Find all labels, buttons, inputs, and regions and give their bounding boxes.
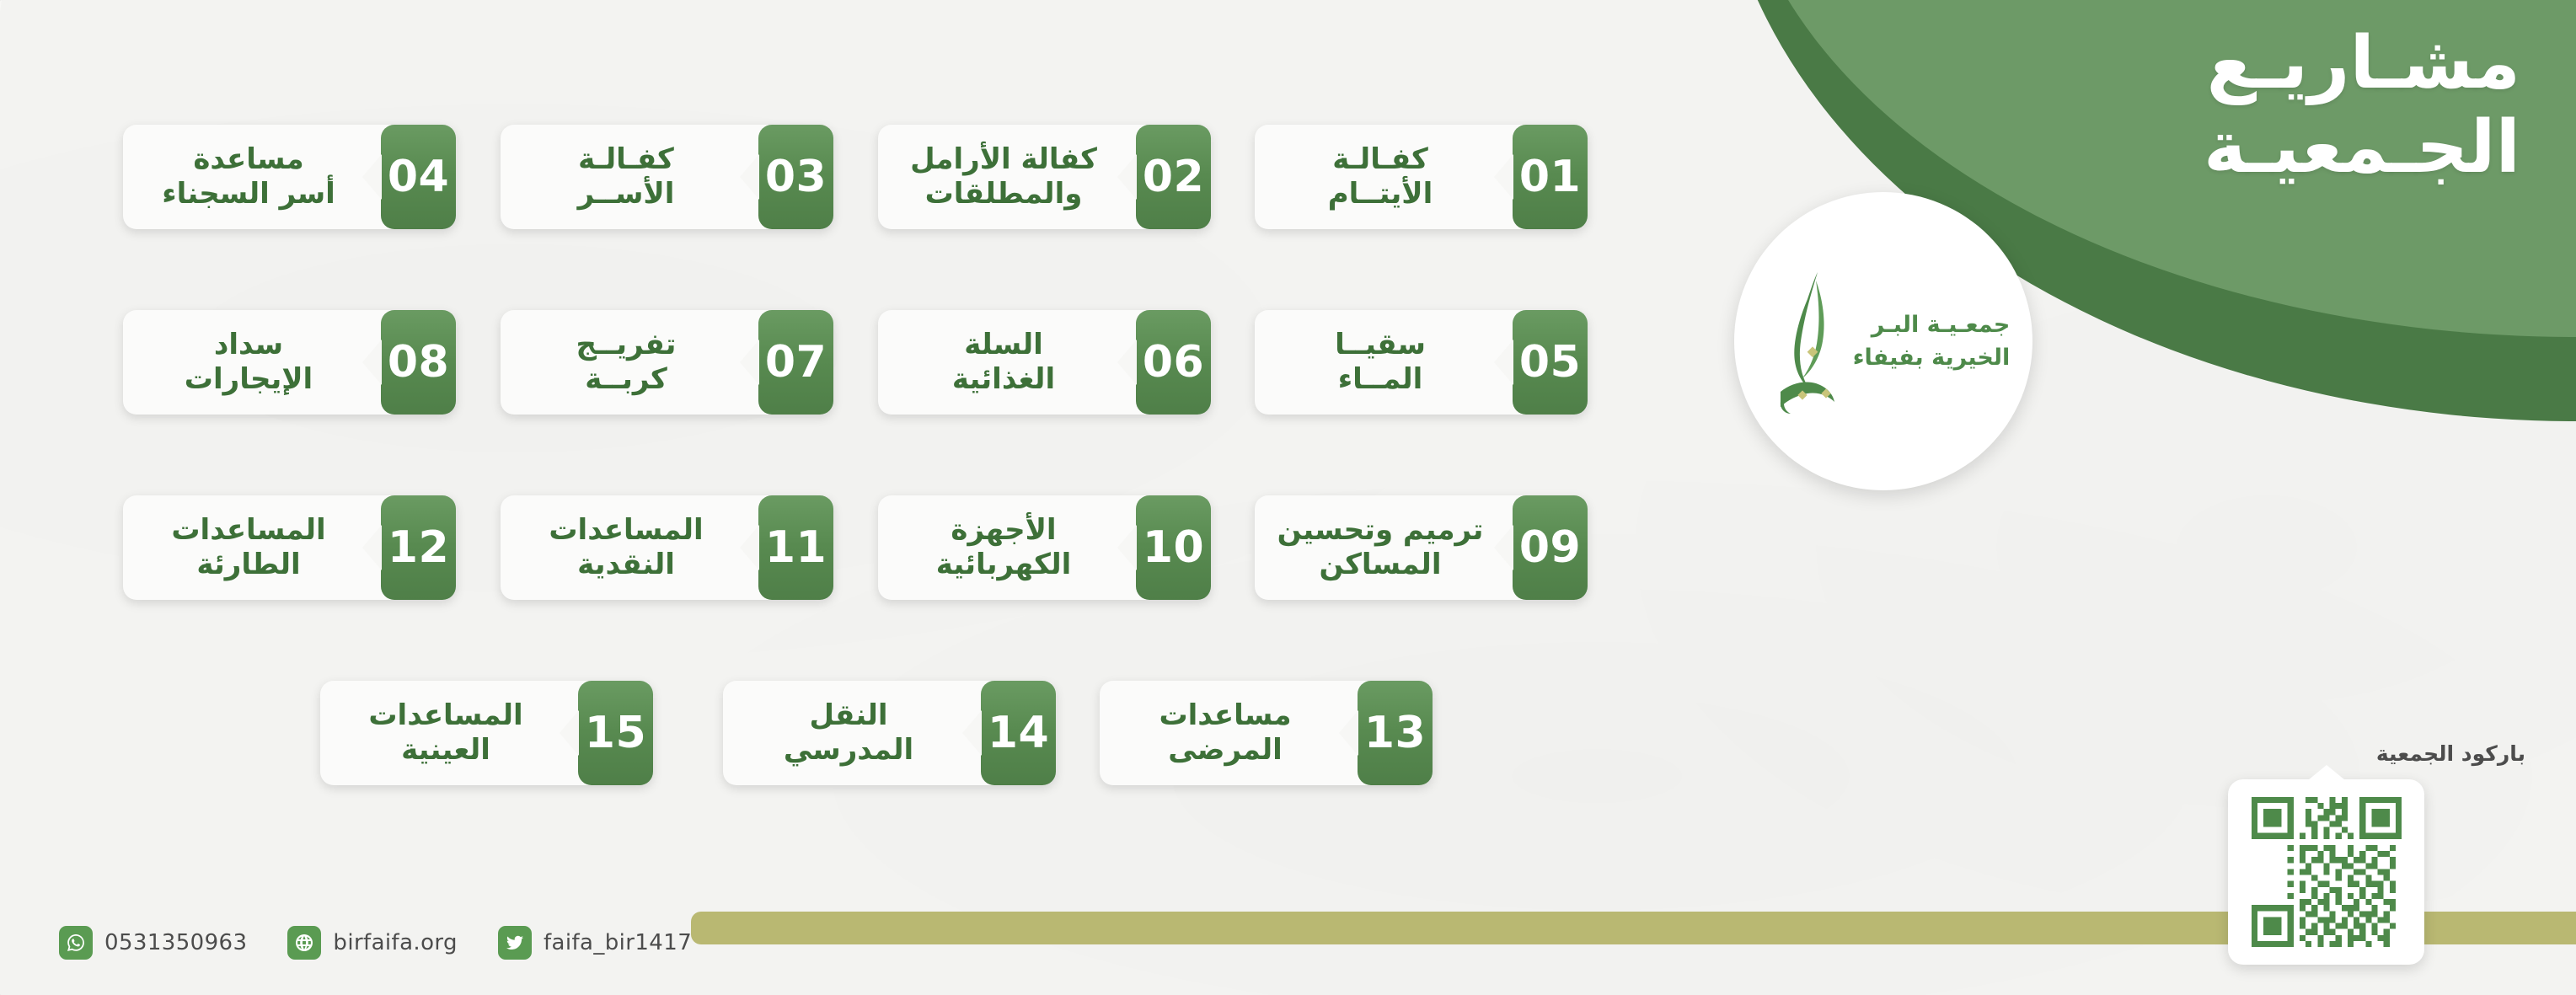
project-card-11[interactable]: 11 المساعدات النقدية	[501, 495, 833, 600]
project-label-14: النقل المدرسي	[723, 681, 981, 785]
qr-box[interactable]	[2228, 779, 2424, 965]
project-card-02[interactable]: 02 كفالة الأرامل والمطلقات	[878, 125, 1211, 229]
project-number-07: 07	[758, 310, 833, 415]
project-number-01: 01	[1513, 125, 1588, 229]
whatsapp-icon[interactable]	[59, 926, 93, 960]
project-card-14[interactable]: 14 النقل المدرسي	[723, 681, 1056, 785]
project-label-06: السلة الغذائية	[878, 310, 1136, 415]
projects-grid: 01 كفـالـة الأيتــام 02 كفالة الأرامل وا…	[0, 0, 2576, 995]
project-label-13: مساعدات المرضى	[1100, 681, 1358, 785]
project-card-08[interactable]: 08 سداد الإيجارات	[123, 310, 456, 415]
project-card-05[interactable]: 05 سقيــا المــاء	[1255, 310, 1588, 415]
project-label-15: المساعدات العينية	[320, 681, 578, 785]
contact-twitter[interactable]: faifa_bir1417	[498, 926, 692, 960]
contact-strip: 0531350963 birfaifa.org faifa_bir1417	[59, 926, 692, 960]
project-number-02: 02	[1136, 125, 1211, 229]
project-card-03[interactable]: 03 كفـالـة الأســر	[501, 125, 833, 229]
project-label-12: المساعدات الطارئة	[123, 495, 381, 600]
project-number-09: 09	[1513, 495, 1588, 600]
project-number-06: 06	[1136, 310, 1211, 415]
project-card-06[interactable]: 06 السلة الغذائية	[878, 310, 1211, 415]
project-label-11: المساعدات النقدية	[501, 495, 758, 600]
project-label-07: تفريــج كربــة	[501, 310, 758, 415]
project-label-01: كفـالـة الأيتــام	[1255, 125, 1513, 229]
qr-label: باركود الجمعية	[2188, 741, 2525, 766]
contact-whatsapp[interactable]: 0531350963	[59, 926, 247, 960]
project-label-10: الأجهزة الكهربائية	[878, 495, 1136, 600]
project-number-12: 12	[381, 495, 456, 600]
project-card-10[interactable]: 10 الأجهزة الكهربائية	[878, 495, 1211, 600]
project-number-15: 15	[578, 681, 653, 785]
project-card-12[interactable]: 12 المساعدات الطارئة	[123, 495, 456, 600]
project-card-15[interactable]: 15 المساعدات العينية	[320, 681, 653, 785]
project-number-13: 13	[1358, 681, 1433, 785]
project-card-07[interactable]: 07 تفريــج كربــة	[501, 310, 833, 415]
project-label-08: سداد الإيجارات	[123, 310, 381, 415]
project-card-04[interactable]: 04 مساعدة أسر السجناء	[123, 125, 456, 229]
globe-icon[interactable]	[287, 926, 321, 960]
qr-code-icon[interactable]	[2252, 797, 2402, 947]
project-label-09: ترميم وتحسين المساكن	[1255, 495, 1513, 600]
project-number-14: 14	[981, 681, 1056, 785]
project-card-01[interactable]: 01 كفـالـة الأيتــام	[1255, 125, 1588, 229]
project-card-13[interactable]: 13 مساعدات المرضى	[1100, 681, 1433, 785]
project-number-03: 03	[758, 125, 833, 229]
project-number-08: 08	[381, 310, 456, 415]
contact-website-text: birfaifa.org	[333, 930, 458, 955]
twitter-icon[interactable]	[498, 926, 532, 960]
project-label-05: سقيــا المــاء	[1255, 310, 1513, 415]
contact-whatsapp-text: 0531350963	[104, 930, 247, 955]
poster-root: مشـاريـع الجـمعيـة جمعـيـة البـر الخيرية…	[0, 0, 2576, 995]
project-label-02: كفالة الأرامل والمطلقات	[878, 125, 1136, 229]
contact-twitter-text: faifa_bir1417	[544, 930, 692, 955]
project-label-04: مساعدة أسر السجناء	[123, 125, 381, 229]
contact-website[interactable]: birfaifa.org	[287, 926, 458, 960]
project-number-11: 11	[758, 495, 833, 600]
project-label-03: كفـالـة الأســر	[501, 125, 758, 229]
project-number-04: 04	[381, 125, 456, 229]
project-number-10: 10	[1136, 495, 1211, 600]
project-card-09[interactable]: 09 ترميم وتحسين المساكن	[1255, 495, 1588, 600]
project-number-05: 05	[1513, 310, 1588, 415]
